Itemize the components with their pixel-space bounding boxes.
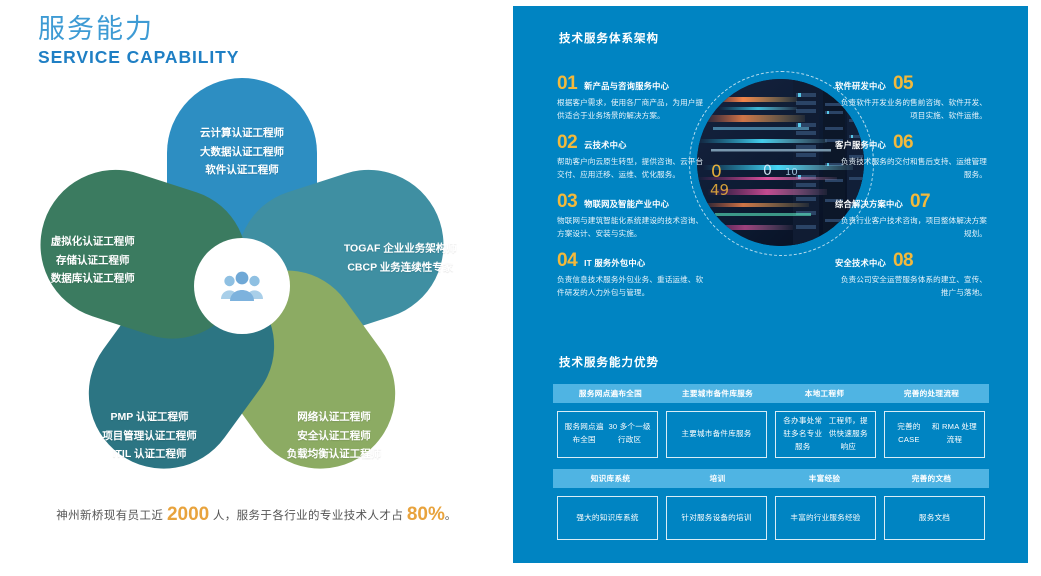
table-header-row: 知识库系统 培训 丰富经验 完善的文档 [557, 469, 985, 488]
caption-number-employees: 2000 [167, 504, 209, 525]
item-number: 04 [557, 251, 577, 270]
item-title: 软件研发中心 [835, 80, 886, 92]
item-number: 07 [910, 192, 930, 211]
item-number: 03 [557, 192, 577, 211]
item-title: 新产品与咨询服务中心 [584, 80, 669, 92]
item-number: 05 [893, 74, 913, 93]
item-description: 负责技术服务的交付和售后支持、运维管理服务。 [835, 155, 987, 181]
flower-hub [203, 247, 281, 325]
svg-text:0: 0 [711, 162, 722, 182]
item-description: 物联网与建筑智能化系统建设的技术咨询、方案设计、安装与实施。 [557, 214, 709, 240]
table-cell[interactable]: 主要城市备件库服务 [666, 411, 767, 458]
advantages-table-2: 知识库系统 培训 丰富经验 完善的文档 强大的知识库系统 针对服务设备的培训 丰… [557, 469, 985, 540]
petal-cloud-text: 云计算认证工程师 大数据认证工程师 软件认证工程师 [200, 78, 284, 180]
item-title: 云技术中心 [584, 139, 627, 151]
left-panel: 服务能力 SERVICE CAPABILITY 云计算认证工程师 大数据认证工程… [0, 0, 513, 576]
petal-pmp-text: PMP 认证工程师 项目管理认证工程师 ITIL 认证工程师 [102, 362, 197, 464]
table-header-cell: 丰富经验 [771, 473, 878, 484]
item-description: 负责信息技术服务外包业务、重话运维、软件研发的人力外包与管理。 [557, 273, 709, 299]
table-header-cell: 完善的处理流程 [878, 388, 985, 399]
table-header-cell: 培训 [664, 473, 771, 484]
page-title: 服务能力 SERVICE CAPABILITY [38, 14, 239, 68]
item-title: 物联网及智能产业中心 [584, 198, 669, 210]
item-number: 06 [893, 133, 913, 152]
architecture-item-08[interactable]: 08 安全技术中心 负责公司安全运营服务体系的建立、宣传、推广与落地。 [835, 251, 987, 299]
architecture-item-04[interactable]: 04 IT 服务外包中心 负责信息技术服务外包业务、重话运维、软件研发的人力外包… [557, 251, 709, 299]
table-cell[interactable]: 服务文档 [884, 496, 985, 540]
people-group-icon [220, 269, 264, 303]
item-description: 负责公司安全运营服务体系的建立、宣传、推广与落地。 [835, 273, 987, 299]
architecture-item-07[interactable]: 07 综合解决方案中心 负责行业客户技术咨询，项目整体解决方案规划。 [835, 192, 987, 240]
architecture-items-left: 01 新产品与咨询服务中心 根据客户需求，使用各厂商产品，为用户提供适合于业务场… [557, 74, 709, 310]
svg-text:10: 10 [785, 167, 798, 178]
table-cell[interactable]: 服务网点遍布全国30 多个一级行政区 [557, 411, 658, 458]
right-panel: 技术服务体系架构 [513, 6, 1028, 563]
item-title: IT 服务外包中心 [584, 257, 645, 269]
item-title: 安全技术中心 [835, 257, 886, 269]
svg-text:0: 0 [763, 163, 772, 179]
employee-caption: 神州新桥现有员工近 2000 人，服务于各行业的专业技术人才占 80%。 [0, 505, 513, 524]
item-number: 02 [557, 133, 577, 152]
architecture-item-03[interactable]: 03 物联网及智能产业中心 物联网与建筑智能化系统建设的技术咨询、方案设计、安装… [557, 192, 709, 240]
advantages-table-1: 服务网点遍布全国 主要城市备件库服务 本地工程师 完善的处理流程 服务网点遍布全… [557, 384, 985, 458]
title-english: SERVICE CAPABILITY [38, 47, 239, 68]
item-title: 综合解决方案中心 [835, 198, 903, 210]
item-number: 08 [893, 251, 913, 270]
table-cell[interactable]: 丰富的行业服务经验 [775, 496, 876, 540]
table-header-cell: 完善的文档 [878, 473, 985, 484]
table-header-row: 服务网点遍布全国 主要城市备件库服务 本地工程师 完善的处理流程 [557, 384, 985, 403]
architecture-items-right: 05 软件研发中心 负责软件开发业务的售前咨询、软件开发、项目实施、软件运维。 … [835, 74, 987, 310]
item-description: 负责行业客户技术咨询，项目整体解决方案规划。 [835, 214, 987, 240]
caption-part1: 神州新桥现有员工近 [56, 510, 163, 522]
petal-togaf-text: TOGAF 企业业务架构师 CBCP 业务连续性专家 [344, 193, 457, 276]
item-number: 01 [557, 74, 577, 93]
item-description: 帮助客户向云原生转型，提供咨询、云平台交付、应用迁移、运维、优化服务。 [557, 155, 709, 181]
title-chinese: 服务能力 [38, 14, 239, 45]
table-header-cell: 服务网点遍布全国 [557, 388, 664, 399]
table-cell[interactable]: 强大的知识库系统 [557, 496, 658, 540]
caption-part2: 人，服务于各行业的专业技术人才占 [213, 510, 403, 522]
service-capability-flower: 云计算认证工程师 大数据认证工程师 软件认证工程师 TOGAF 企业业务架构师 … [32, 86, 452, 486]
architecture-item-01[interactable]: 01 新产品与咨询服务中心 根据客户需求，使用各厂商产品，为用户提供适合于业务场… [557, 74, 709, 122]
svg-text:49: 49 [710, 181, 729, 199]
table-cell[interactable]: 各办事处常驻多名专业服务工程师，提供快速服务响应 [775, 411, 876, 458]
item-title: 客户服务中心 [835, 139, 886, 151]
table-header-cell: 知识库系统 [557, 473, 664, 484]
item-description: 负责软件开发业务的售前咨询、软件开发、项目实施、软件运维。 [835, 96, 987, 122]
petal-network-text: 网络认证工程师 安全认证工程师 负载均衡认证工程师 [287, 362, 382, 464]
table-row: 服务网点遍布全国30 多个一级行政区 主要城市备件库服务 各办事处常驻多名专业服… [557, 411, 985, 458]
architecture-item-02[interactable]: 02 云技术中心 帮助客户向云原生转型，提供咨询、云平台交付、应用迁移、运维、优… [557, 133, 709, 181]
table-header-cell: 本地工程师 [771, 388, 878, 399]
table-header-cell: 主要城市备件库服务 [664, 388, 771, 399]
item-description: 根据客户需求，使用各厂商产品，为用户提供适合于业务场景的解决方案。 [557, 96, 709, 122]
petal-virtualization-text: 虚拟化认证工程师 存储认证工程师 数据库认证工程师 [51, 186, 135, 288]
architecture-section-title: 技术服务体系架构 [559, 30, 659, 46]
table-cell[interactable]: 针对服务设备的培训 [666, 496, 767, 540]
caption-number-percent: 80% [407, 504, 445, 525]
architecture-item-06[interactable]: 06 客户服务中心 负责技术服务的交付和售后支持、运维管理服务。 [835, 133, 987, 181]
architecture-item-05[interactable]: 05 软件研发中心 负责软件开发业务的售前咨询、软件开发、项目实施、软件运维。 [835, 74, 987, 122]
caption-part3: 。 [445, 510, 457, 522]
slide-page: 服务能力 SERVICE CAPABILITY 云计算认证工程师 大数据认证工程… [0, 0, 1041, 576]
table-row: 强大的知识库系统 针对服务设备的培训 丰富的行业服务经验 服务文档 [557, 496, 985, 540]
table-cell[interactable]: 完善的 CASE和 RMA 处理流程 [884, 411, 985, 458]
advantages-section-title: 技术服务能力优势 [559, 354, 659, 370]
